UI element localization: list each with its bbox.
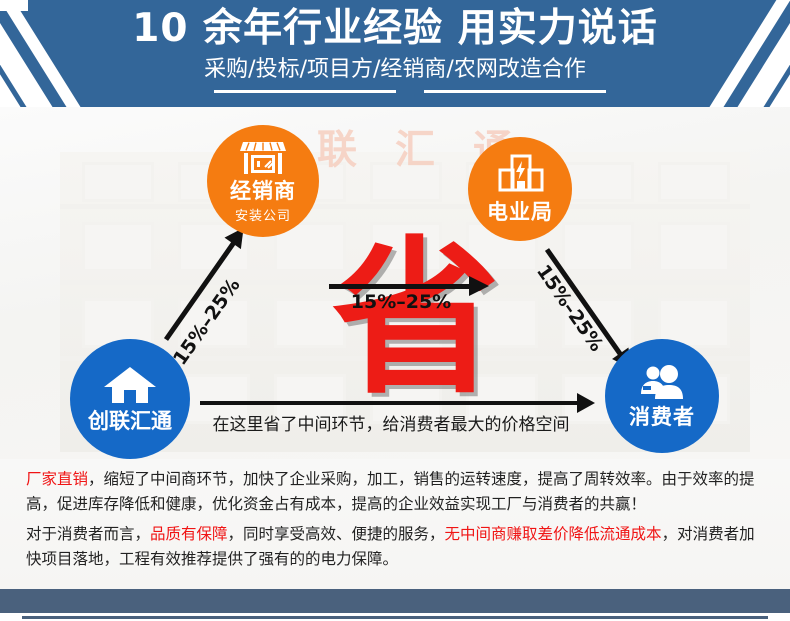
node-brand[interactable]: 创联汇通	[70, 339, 190, 459]
header-subtitle: 采购/投标/项目方/经销商/农网改造合作	[0, 56, 790, 84]
paragraph-2: 对于消费者而言，品质有保障，同时享受高效、便捷的服务，无中间商赚取差价降低流通成…	[26, 522, 766, 572]
node-dealer-label: 经销商	[230, 180, 296, 202]
paragraph-2-text-a: 对于消费者而言，	[26, 525, 150, 543]
paragraph-2-highlight-2: 无中间商赚取差价降低流通成本	[445, 525, 662, 543]
house-icon	[103, 365, 157, 409]
arrow-brand-to-consumer	[200, 401, 577, 405]
node-brand-label: 创联汇通	[88, 410, 172, 432]
paragraph-2-highlight-1: 品质有保障	[150, 525, 228, 543]
page-header: 10 余年行业经验 用实力说话 采购/投标/项目方/经销商/农网改造合作	[0, 0, 790, 107]
arrow-dealer-to-bureau	[329, 284, 469, 289]
paragraph-2-text-b: ，同时享受高效、便捷的服务，	[228, 525, 445, 543]
power-building-icon	[495, 154, 545, 198]
node-dealer[interactable]: 经销商 安装公司	[207, 125, 319, 237]
node-bureau[interactable]: 电业局	[468, 137, 572, 241]
header-title: 10 余年行业经验 用实力说话	[0, 5, 790, 53]
storefront-icon	[240, 140, 286, 178]
node-consumer-label: 消费者	[629, 406, 695, 428]
node-bureau-label: 电业局	[487, 201, 553, 223]
header-divider-left	[214, 90, 396, 93]
node-dealer-sublabel: 安装公司	[235, 205, 291, 224]
people-icon	[637, 364, 687, 404]
paragraph-1-highlight: 厂家直销	[26, 470, 88, 488]
node-consumer[interactable]: 消费者	[605, 339, 719, 453]
bottom-bar	[0, 589, 790, 613]
arrow-label-brand-to-consumer: 在这里省了中间环节，给消费者最大的价格空间	[196, 410, 586, 435]
arrow-label-dealer-to-bureau: 15%–25%	[326, 291, 476, 313]
bottom-accent-line	[22, 616, 768, 619]
watermark-text: 创联汇通	[0, 117, 790, 175]
diagram-stage: 创联汇通 省 15%–25% 在这里省了中间环节，给消费者最大的价格空间 15%…	[0, 107, 790, 459]
header-divider-right	[424, 90, 606, 93]
paragraph-1-text: ，缩短了中间商环节，加快了企业采购，加工，销售的运转速度，提高了周转效率。由于效…	[26, 470, 755, 513]
paragraph-1: 厂家直销，缩短了中间商环节，加快了企业采购，加工，销售的运转速度，提高了周转效率…	[26, 467, 766, 517]
center-word-sheng: 省	[332, 235, 492, 403]
promo-page: 10 余年行业经验 用实力说话 采购/投标/项目方/经销商/农网改造合作	[0, 0, 790, 621]
copy-block: 厂家直销，缩短了中间商环节，加快了企业采购，加工，销售的运转速度，提高了周转效率…	[0, 459, 790, 589]
